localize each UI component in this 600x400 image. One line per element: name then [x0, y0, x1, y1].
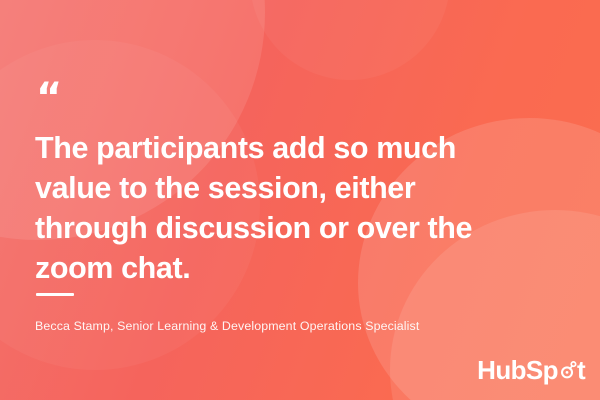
- quote-line-3: through discussion or over the: [35, 211, 472, 245]
- quote-text: The participants add so much value to th…: [35, 128, 525, 288]
- testimonial-card: “ The participants add so much value to …: [0, 0, 600, 400]
- quote-mark-icon: “: [36, 78, 61, 118]
- divider-rule: [36, 293, 74, 296]
- hubspot-sprocket-icon: [558, 361, 577, 380]
- hubspot-wordmark: HubSp t: [477, 357, 585, 383]
- attribution-text: Becca Stamp, Senior Learning & Developme…: [35, 319, 419, 333]
- quote-line-2: value to the session, either: [35, 171, 415, 205]
- hubspot-wordmark-part-2: t: [577, 357, 585, 383]
- quote-line-4: zoom chat.: [35, 251, 190, 285]
- hubspot-wordmark-part-1: HubSp: [477, 357, 558, 383]
- hubspot-logo: HubSp t: [477, 357, 585, 383]
- quote-line-1: The participants add so much: [35, 131, 456, 165]
- card-content: “ The participants add so much value to …: [35, 0, 570, 400]
